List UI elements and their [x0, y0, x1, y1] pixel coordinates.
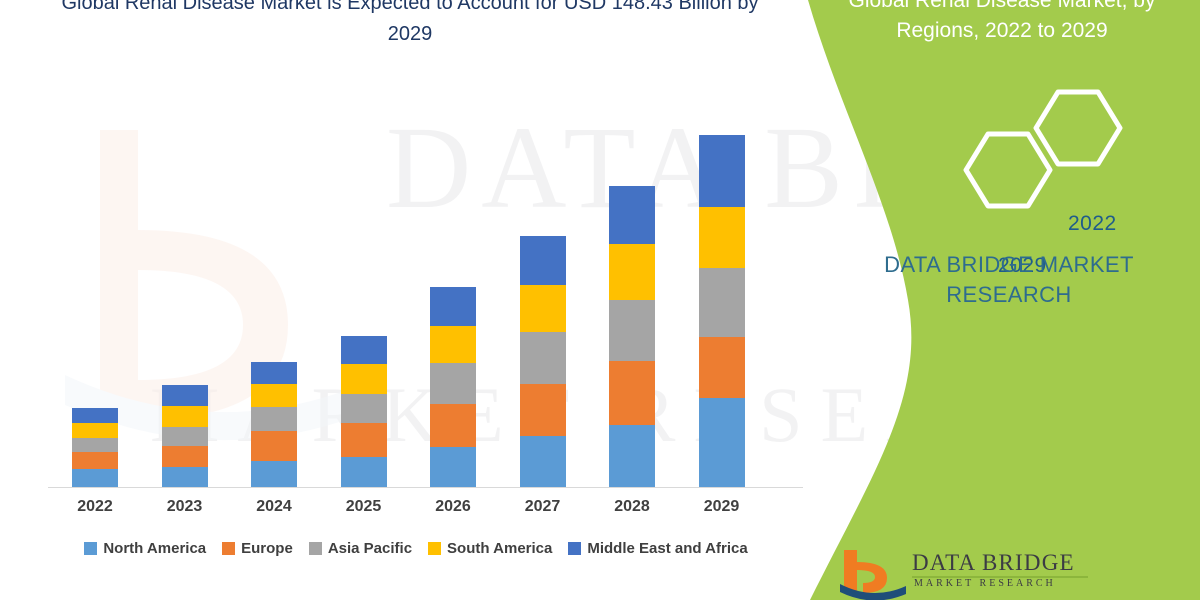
bar-segment [609, 361, 655, 425]
data-bridge-logo-icon [840, 548, 906, 600]
bar-segment [341, 336, 387, 364]
bar-segment [430, 326, 476, 363]
panel-heading: Global Renal Disease Market, by Regions,… [820, 0, 1184, 46]
x-axis-label-2026: 2026 [413, 498, 493, 516]
bar-2028 [609, 186, 655, 487]
x-axis-label-2027: 2027 [503, 498, 583, 516]
x-axis-label-2024: 2024 [234, 498, 314, 516]
bar-2027 [520, 236, 566, 487]
chart-plot-area: 20222023202420252026202720282029 [0, 0, 820, 600]
bar-segment [699, 398, 745, 487]
bar-segment [430, 363, 476, 404]
infographic-root: DATA BRIDGE MARKET RESEARCH Global Renal… [0, 0, 1200, 600]
legend-item[interactable]: Middle East and Africa [568, 540, 747, 557]
x-axis-line [48, 487, 803, 488]
bar-segment [72, 408, 118, 423]
x-axis-label-2028: 2028 [592, 498, 672, 516]
bar-segment [162, 385, 208, 406]
hexagon-label-start: 2022 [1068, 212, 1117, 236]
bar-segment [341, 394, 387, 423]
bar-segment [72, 469, 118, 487]
bar-segment [430, 287, 476, 326]
x-axis-label-2025: 2025 [324, 498, 404, 516]
bar-segment [341, 364, 387, 394]
brand-line-1: DATA BRIDGE MARKET [844, 250, 1174, 280]
legend-swatch-icon [309, 542, 322, 555]
legend-swatch-icon [428, 542, 441, 555]
legend-swatch-icon [84, 542, 97, 555]
legend-item[interactable]: South America [428, 540, 552, 557]
bar-segment [520, 285, 566, 332]
bar-segment [609, 425, 655, 487]
bar-segment [699, 135, 745, 207]
bar-2025 [341, 336, 387, 487]
bar-2024 [251, 362, 297, 487]
company-logo: DATA BRIDGE MARKET RESEARCH [840, 548, 1140, 600]
bar-segment [72, 452, 118, 469]
brand-panel: Global Renal Disease Market, by Regions,… [780, 0, 1200, 600]
logo-title: DATA BRIDGE [912, 550, 1075, 576]
bar-segment [520, 384, 566, 436]
x-axis-label-2023: 2023 [145, 498, 225, 516]
bar-segment [162, 446, 208, 467]
legend-swatch-icon [568, 542, 581, 555]
bar-segment [72, 423, 118, 438]
bar-segment [609, 244, 655, 300]
bar-segment [609, 186, 655, 244]
bar-segment [251, 431, 297, 461]
legend-item[interactable]: Asia Pacific [309, 540, 412, 557]
hexagon-shapes-icon [870, 88, 1170, 228]
legend-item[interactable]: Europe [222, 540, 293, 557]
legend-item[interactable]: North America [84, 540, 206, 557]
bar-segment [251, 407, 297, 431]
bar-2023 [162, 385, 208, 487]
bar-segment [162, 427, 208, 446]
bar-segment [520, 236, 566, 285]
chart-legend: North AmericaEuropeAsia PacificSouth Ame… [46, 540, 786, 557]
bar-2026 [430, 287, 476, 487]
bar-segment [699, 268, 745, 337]
bar-2022 [72, 408, 118, 487]
legend-label: North America [103, 540, 206, 557]
bar-segment [341, 423, 387, 457]
bar-segment [520, 332, 566, 384]
bar-segment [341, 457, 387, 487]
legend-label: Europe [241, 540, 293, 557]
x-axis-label-2029: 2029 [682, 498, 762, 516]
bar-segment [609, 300, 655, 361]
legend-label: South America [447, 540, 552, 557]
hexagon-group: 2022 2029 [870, 88, 1170, 228]
bar-segment [162, 467, 208, 487]
legend-swatch-icon [222, 542, 235, 555]
brand-line-2: RESEARCH [844, 280, 1174, 310]
x-axis-label-2022: 2022 [55, 498, 135, 516]
bar-segment [520, 436, 566, 487]
bar-segment [699, 207, 745, 268]
bar-segment [430, 447, 476, 487]
bar-segment [430, 404, 476, 447]
bar-segment [72, 438, 118, 452]
bar-segment [251, 461, 297, 487]
legend-label: Middle East and Africa [587, 540, 747, 557]
bar-segment [699, 337, 745, 398]
bar-segment [162, 406, 208, 427]
bar-2029 [699, 135, 745, 487]
bar-segment [251, 384, 297, 407]
brand-name: DATA BRIDGE MARKET RESEARCH [844, 250, 1174, 310]
legend-label: Asia Pacific [328, 540, 412, 557]
bar-segment [251, 362, 297, 384]
logo-tagline: MARKET RESEARCH [914, 578, 1056, 589]
